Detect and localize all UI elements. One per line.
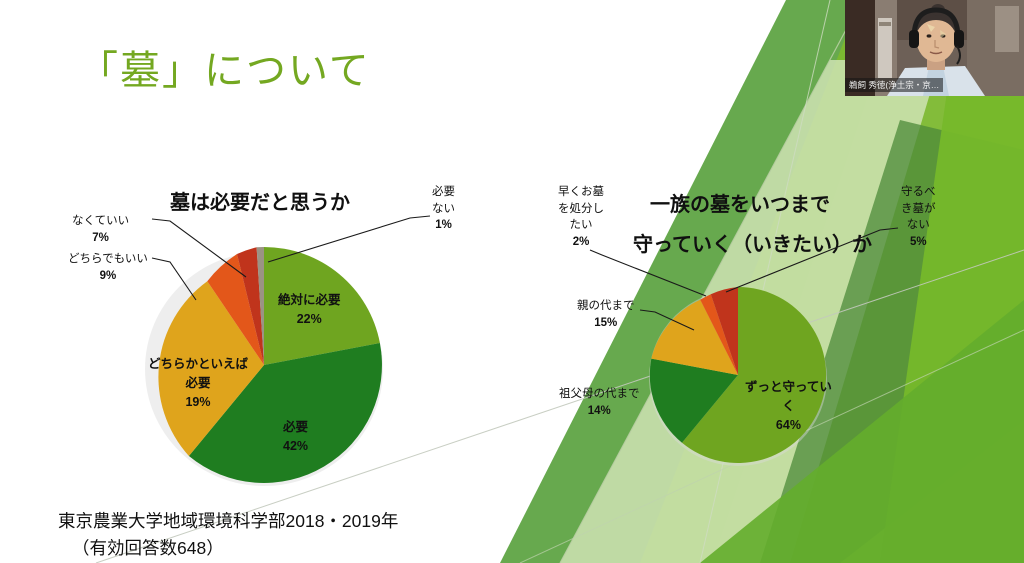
pie-callout-left-5: 必要 ない 1% xyxy=(432,184,455,234)
source-note-line2: （有効回答数648） xyxy=(58,535,398,562)
pie-callout-left-4: なくていい 7% xyxy=(72,213,129,246)
source-note: 東京農業大学地域環境科学部2018・2019年 （有効回答数648） xyxy=(58,508,398,562)
pie-label-left-0: 絶対に必要 22% xyxy=(278,291,341,329)
pie-label-right-0: ずっと守ってい く 64% xyxy=(745,378,832,434)
chart-title-right-line2: 守っていく（いきたい）か xyxy=(633,228,872,257)
chart-title-right-line1: 一族の墓をいつまで xyxy=(650,188,830,217)
pie-callout-left-3: どちらでもいい 9% xyxy=(68,251,148,284)
chart-title-left: 墓は必要だと思うか xyxy=(170,186,350,215)
presentation-slide: 「墓」について 墓は必要だと思うか 絶対に必要 22% xyxy=(0,0,1024,563)
pie-label-left-2: どちらかといえば 必要 19% xyxy=(148,355,248,411)
source-note-line1: 東京農業大学地域環境科学部2018・2019年 xyxy=(58,511,398,531)
pie-callout-right-1: 祖父母の代まで 14% xyxy=(559,386,640,419)
pie-callout-right-4: 守るべ き墓が ない 5% xyxy=(901,184,936,251)
pie-chart-right xyxy=(648,285,828,465)
pie-label-left-1: 必要 42% xyxy=(283,418,308,456)
pie-callout-right-2: 親の代まで 15% xyxy=(577,298,635,331)
pie-slices-right xyxy=(650,287,826,463)
webcam-video-overlay[interactable]: 鵜飼 秀徳(浄土宗・京… xyxy=(845,0,1024,96)
pie-callout-right-3: 早くお墓 を処分し たい 2% xyxy=(558,184,604,251)
webcam-participant-name: 鵜飼 秀徳(浄土宗・京… xyxy=(845,78,943,92)
page-title: 「墓」について xyxy=(78,38,371,96)
